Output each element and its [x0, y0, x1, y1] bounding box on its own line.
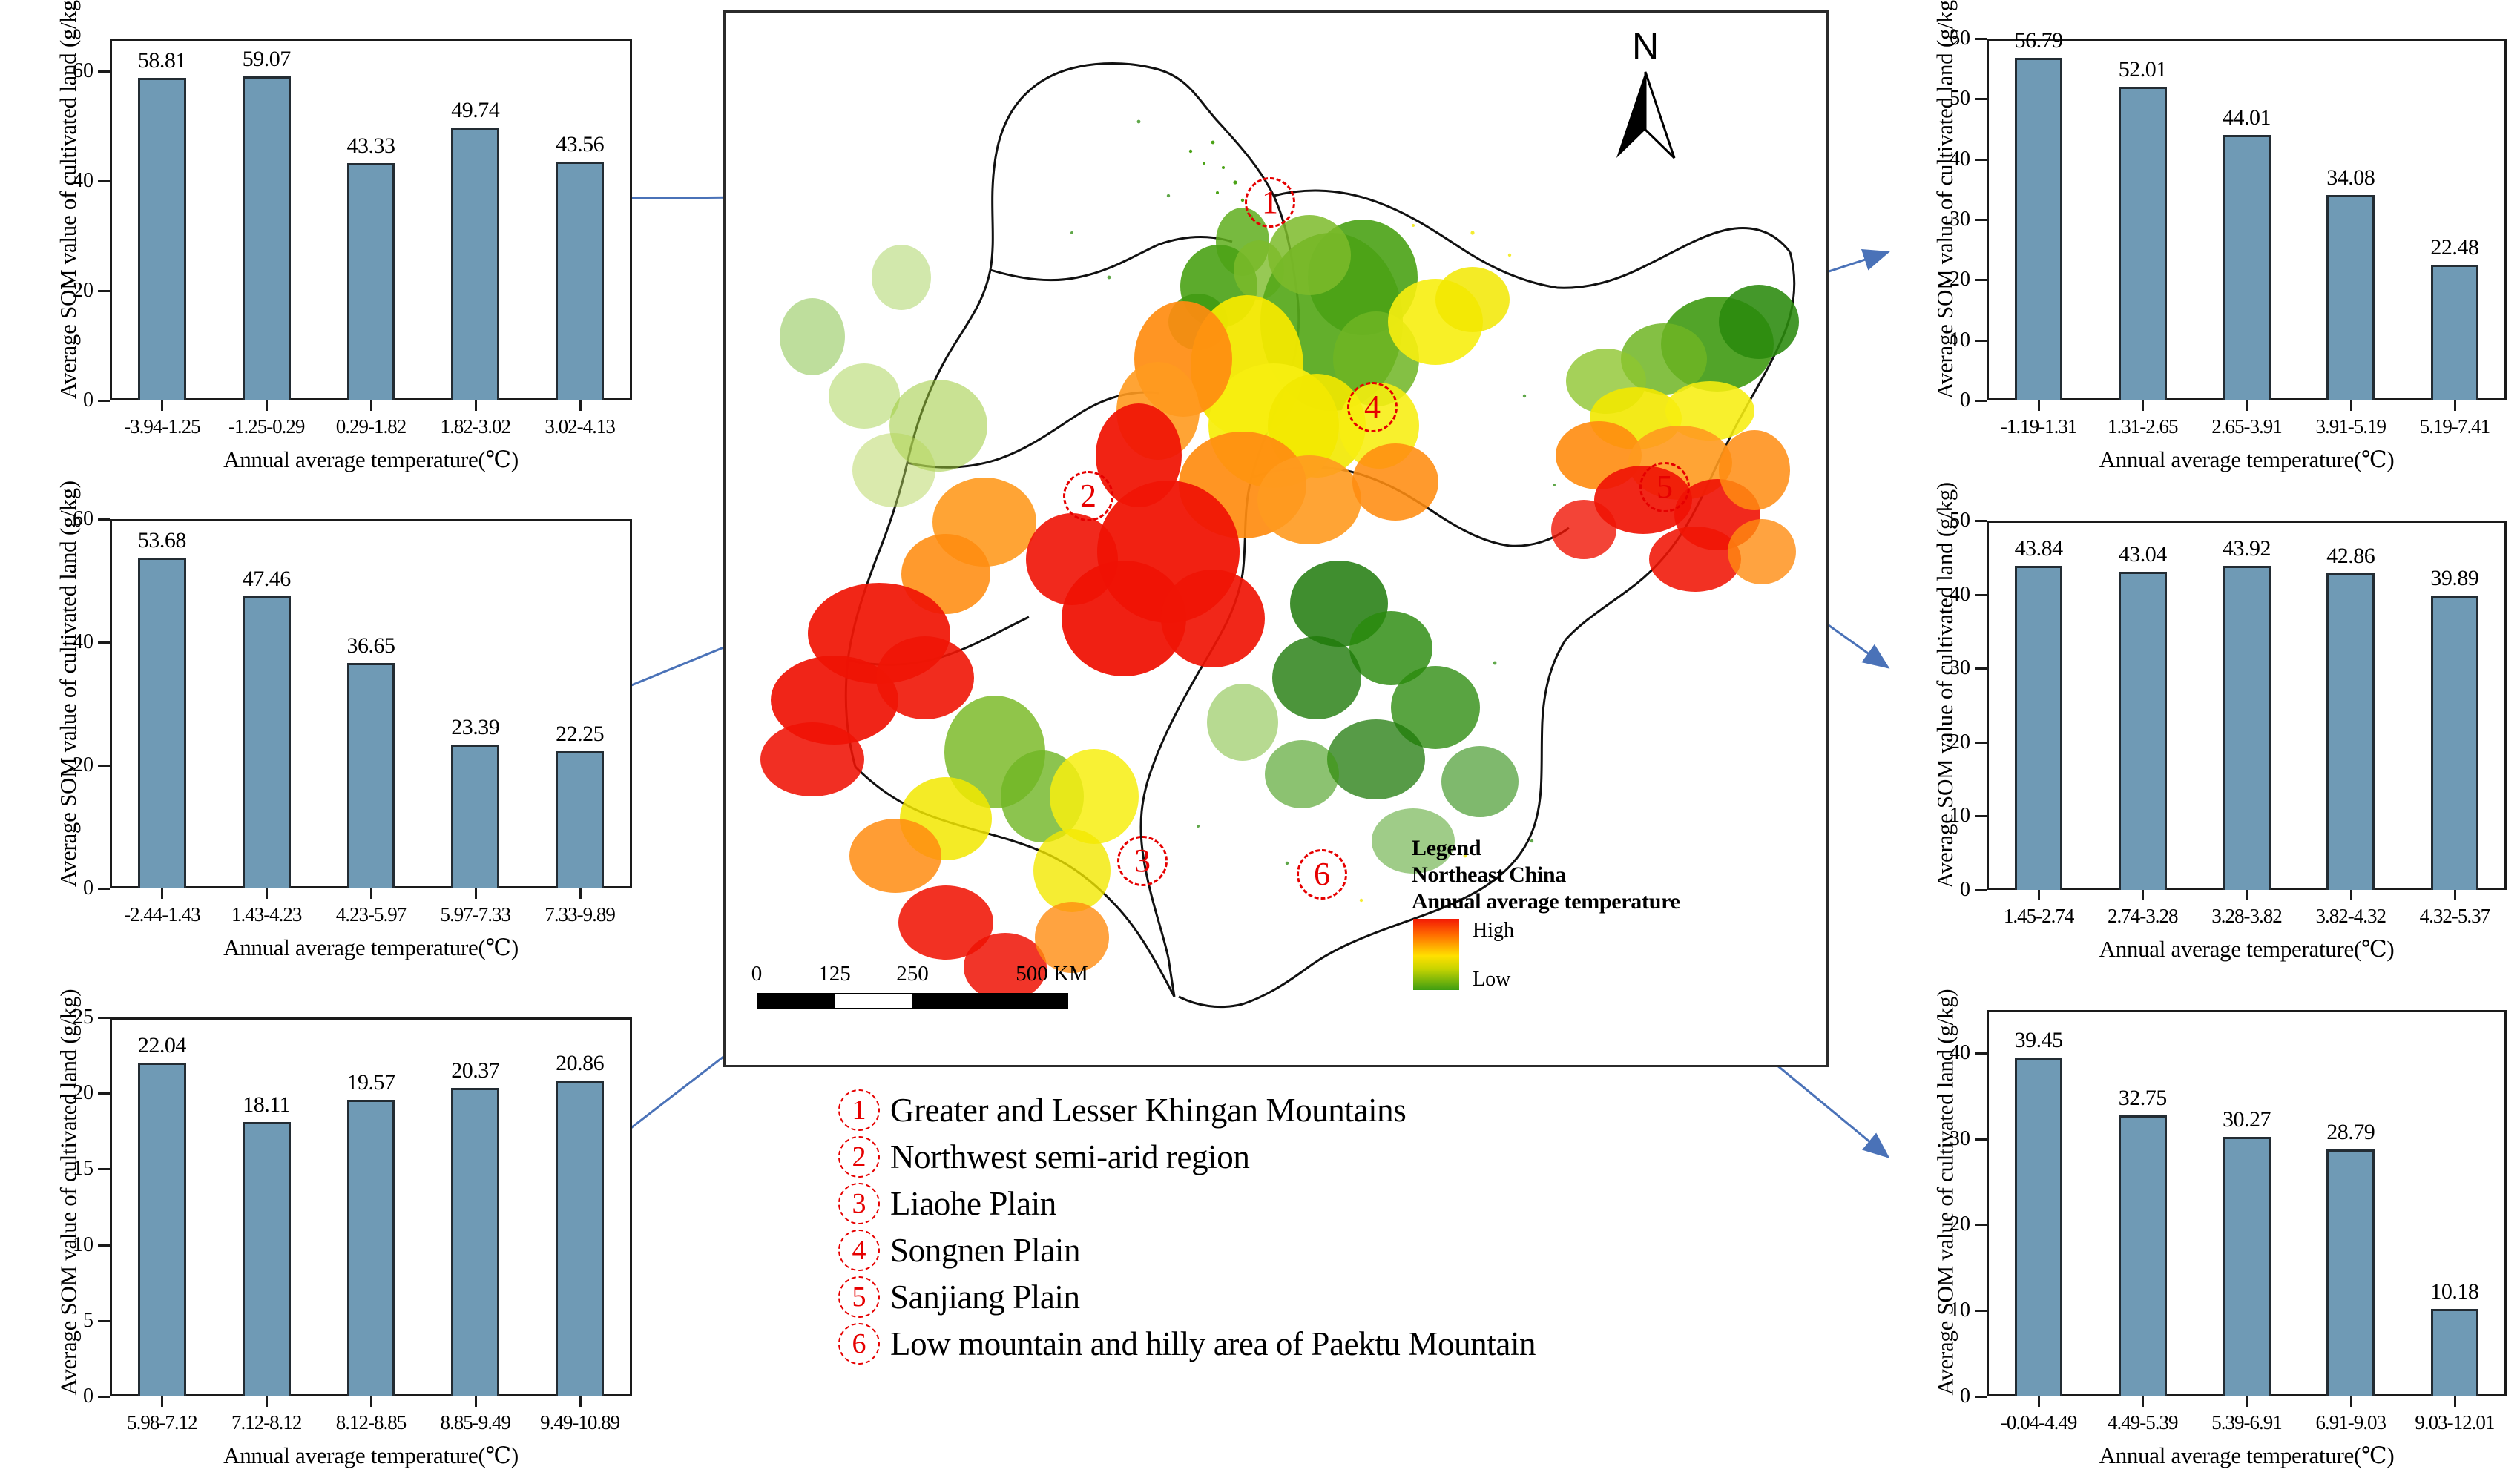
x-axis-tick-label: -1.25-0.29: [214, 415, 319, 438]
region-number-badge: 6: [838, 1323, 880, 1365]
map-marker-2[interactable]: 2: [1063, 471, 1113, 521]
x-axis-tick-mark: [2454, 1396, 2456, 1407]
x-axis-tick-labels: -0.04-4.494.49-5.395.39-6.916.91-9.039.0…: [1987, 1411, 2507, 1434]
region-number-badge: 3: [838, 1183, 880, 1224]
x-axis-tick-label: 8.12-8.85: [319, 1411, 424, 1434]
y-axis-tick-mark: [98, 888, 110, 890]
x-axis-tick-label: 8.85-9.49: [423, 1411, 527, 1434]
bar[interactable]: [556, 162, 604, 400]
bar-value-label: 10.18: [2430, 1279, 2478, 1304]
bar[interactable]: [138, 78, 186, 400]
bar[interactable]: [2431, 1309, 2478, 1396]
bar[interactable]: [2431, 596, 2478, 890]
bar[interactable]: [2326, 195, 2374, 400]
y-axis-title: Average SOM value of cultivated land (g/…: [55, 1016, 82, 1395]
bar-value-label: 43.04: [2119, 542, 2167, 567]
x-axis-tick-mark: [2246, 400, 2248, 411]
region-list-item: 4Songnen Plain: [838, 1227, 1536, 1273]
bar-item[interactable]: 56.79: [1987, 39, 2090, 400]
y-axis-tick-mark: [1975, 520, 1987, 522]
x-axis-title: Annual average temperature(℃): [1987, 446, 2507, 473]
chart-panel-2[interactable]: 020406053.6847.4636.6523.3922.25-2.44-1.…: [0, 481, 645, 970]
y-axis-title: Average SOM value of cultivated land (g/…: [1932, 37, 1958, 399]
map-panel[interactable]: N Legend Northeast China Annual average …: [723, 10, 1829, 1067]
bar-item[interactable]: 44.01: [2194, 39, 2298, 400]
y-axis-tick-mark: [98, 641, 110, 644]
chart-panel-3[interactable]: 051015202522.0418.1119.5720.3720.865.98-…: [0, 979, 645, 1478]
x-axis-tick-mark: [161, 888, 163, 899]
x-axis-tick-mark: [2142, 1396, 2144, 1407]
region-number-badge: 2: [838, 1136, 880, 1178]
bar[interactable]: [451, 1088, 499, 1396]
bar-item[interactable]: 34.08: [2299, 39, 2403, 400]
bar-item[interactable]: 43.92: [2194, 521, 2298, 890]
x-axis-tick-label: 3.82-4.32: [2299, 905, 2403, 928]
x-axis-tick-label: 5.19-7.41: [2403, 415, 2507, 438]
bar-value-label: 58.81: [138, 48, 186, 73]
bar-series: 58.8159.0743.3349.7443.56: [110, 39, 632, 400]
y-axis-tick-mark: [1975, 667, 1987, 670]
scale-bar: [757, 993, 1068, 1009]
bar-item[interactable]: 43.33: [319, 39, 424, 400]
region-name-label: Songnen Plain: [890, 1231, 1080, 1270]
x-axis-tick-mark: [2350, 400, 2352, 411]
north-label: N: [1605, 27, 1686, 65]
bar[interactable]: [2015, 566, 2062, 890]
x-axis-tick-labels: -2.44-1.431.43-4.234.23-5.975.97-7.337.3…: [110, 903, 632, 926]
bar-value-label: 18.11: [243, 1092, 290, 1118]
y-axis-tick-mark: [1975, 815, 1987, 817]
x-axis-tick-mark: [266, 888, 268, 899]
chart-panel-6[interactable]: 01020304039.4532.7530.2728.7910.18-0.04-…: [1877, 971, 2520, 1478]
y-axis-tick-mark: [98, 1017, 110, 1019]
region-list-item: 5Sanjiang Plain: [838, 1273, 1536, 1320]
y-axis-tick-mark: [1975, 279, 1987, 281]
region-name-label: Liaohe Plain: [890, 1184, 1056, 1223]
bar-value-label: 43.84: [2015, 536, 2063, 561]
x-axis-tick-label: 1.43-4.23: [214, 903, 319, 926]
y-axis-tick-mark: [98, 1092, 110, 1095]
x-axis-tick-label: -2.44-1.43: [110, 903, 214, 926]
x-axis-tick-label: 3.91-5.19: [2299, 415, 2403, 438]
region-name-label: Sanjiang Plain: [890, 1278, 1080, 1316]
x-axis-tick-label: 2.74-3.28: [2090, 905, 2194, 928]
y-axis-tick-label: 0: [1960, 878, 1970, 902]
x-axis-tick-mark: [2350, 890, 2352, 900]
bar-item[interactable]: 43.56: [527, 39, 632, 400]
bar-item[interactable]: 20.37: [423, 1017, 527, 1396]
bar-value-label: 59.07: [243, 47, 291, 72]
x-axis-tick-label: -0.04-4.49: [1987, 1411, 2090, 1434]
bar-value-label: 32.75: [2119, 1086, 2167, 1111]
x-axis-tick-mark: [2038, 890, 2040, 900]
x-axis-title: Annual average temperature(℃): [1987, 1442, 2507, 1469]
x-axis-tick-mark: [475, 1396, 477, 1407]
y-axis-tick-mark: [1975, 340, 1987, 342]
x-axis-tick-labels: -3.94-1.25-1.25-0.290.29-1.821.82-3.023.…: [110, 415, 632, 438]
x-axis-tick-mark: [2038, 400, 2040, 411]
y-axis-tick-mark: [1975, 1310, 1987, 1312]
x-axis-tick-label: -1.19-1.31: [1987, 415, 2090, 438]
bar-value-label: 49.74: [451, 98, 499, 123]
bar-series: 22.0418.1119.5720.3720.86: [110, 1017, 632, 1396]
bar[interactable]: [2223, 135, 2270, 400]
x-axis-tick-label: 4.49-5.39: [2090, 1411, 2194, 1434]
bar-series: 53.6847.4636.6523.3922.25: [110, 519, 632, 888]
x-axis-tick-mark: [475, 888, 477, 899]
x-axis-tick-mark: [579, 400, 582, 411]
x-axis-tick-label: 5.39-6.91: [2194, 1411, 2298, 1434]
x-axis-tick-label: 1.82-3.02: [423, 415, 527, 438]
y-axis-title: Average SOM value of cultivated land (g/…: [1932, 1009, 1958, 1395]
bar-item[interactable]: 28.79: [2299, 1010, 2403, 1396]
bar-value-label: 56.79: [2015, 28, 2063, 53]
bar-item[interactable]: 22.48: [2403, 39, 2507, 400]
legend-title: Legend: [1412, 836, 1481, 861]
bar-value-label: 22.48: [2430, 235, 2478, 260]
y-axis-tick-mark: [1975, 1052, 1987, 1055]
x-axis-tick-label: 3.28-3.82: [2194, 905, 2298, 928]
y-axis-tick-label: 0: [1960, 1385, 1970, 1408]
bar-value-label: 36.65: [346, 633, 395, 659]
x-axis-tick-label: 1.31-2.65: [2090, 415, 2194, 438]
bar-value-label: 39.45: [2015, 1028, 2063, 1053]
bar-value-label: 20.37: [451, 1058, 499, 1083]
bar-item[interactable]: 23.39: [423, 519, 527, 888]
map-marker-6[interactable]: 6: [1297, 849, 1347, 900]
bar-item[interactable]: 53.68: [110, 519, 214, 888]
x-axis-tick-mark: [370, 1396, 372, 1407]
bar-item[interactable]: 20.86: [527, 1017, 632, 1396]
y-axis-tick-mark: [98, 765, 110, 767]
bar[interactable]: [2326, 573, 2374, 890]
bar-item[interactable]: 32.75: [2090, 1010, 2194, 1396]
x-axis-tick-label: 7.33-9.89: [527, 903, 632, 926]
y-axis-tick-mark: [1975, 1396, 1987, 1398]
bar[interactable]: [2223, 1137, 2270, 1396]
chart-panel-4[interactable]: 010203040506056.7952.0144.0134.0822.48-1…: [1877, 0, 2520, 482]
bar-value-label: 34.08: [2326, 165, 2375, 191]
color-ramp: [1413, 919, 1459, 990]
bar-item[interactable]: 36.65: [319, 519, 424, 888]
region-number-badge: 5: [838, 1276, 880, 1318]
x-axis-tick-label: 4.32-5.37: [2403, 905, 2507, 928]
bar-item[interactable]: 10.18: [2403, 1010, 2507, 1396]
scale-tick-250: 250: [896, 962, 929, 986]
bar-item[interactable]: 39.45: [1987, 1010, 2090, 1396]
region-list-item: 1Greater and Lesser Khingan Mountains: [838, 1086, 1536, 1133]
bar[interactable]: [2015, 1058, 2062, 1396]
bar-value-label: 20.86: [556, 1051, 604, 1076]
y-axis-title: Average SOM value of cultivated land (g/…: [1932, 519, 1958, 888]
bar-item[interactable]: 43.84: [1987, 521, 2090, 890]
bar-value-label: 39.89: [2430, 566, 2478, 591]
bar-value-label: 22.25: [556, 722, 604, 747]
map-marker-5[interactable]: 5: [1639, 462, 1690, 512]
x-axis-tick-labels: 5.98-7.127.12-8.128.12-8.858.85-9.499.49…: [110, 1411, 632, 1434]
y-axis-tick-mark: [1975, 1138, 1987, 1141]
x-axis-tick-label: 7.12-8.12: [214, 1411, 319, 1434]
x-axis-tick-label: 0.29-1.82: [319, 415, 424, 438]
bar-item[interactable]: 22.25: [527, 519, 632, 888]
x-axis-title: Annual average temperature(℃): [1987, 936, 2507, 963]
bar-value-label: 43.33: [346, 133, 395, 159]
x-axis-tick-mark: [2246, 1396, 2248, 1407]
x-axis-tick-mark: [2038, 1396, 2040, 1407]
x-axis-tick-mark: [2142, 400, 2144, 411]
x-axis-tick-label: -3.94-1.25: [110, 415, 214, 438]
bar[interactable]: [2431, 265, 2478, 400]
x-axis-tick-mark: [579, 1396, 582, 1407]
y-axis-tick-mark: [98, 180, 110, 182]
bar[interactable]: [138, 558, 186, 888]
north-arrow: N: [1605, 27, 1686, 168]
bar-value-label: 53.68: [138, 528, 186, 553]
x-axis-tick-label: 9.49-10.89: [527, 1411, 632, 1434]
region-number-badge: 1: [838, 1089, 880, 1131]
bar[interactable]: [451, 745, 499, 888]
bar-value-label: 22.04: [138, 1033, 186, 1058]
region-list-item: 6Low mountain and hilly area of Paektu M…: [838, 1320, 1536, 1367]
bar-item[interactable]: 30.27: [2194, 1010, 2298, 1396]
y-axis-tick-label: 0: [1960, 389, 1970, 412]
bar-item[interactable]: 43.04: [2090, 521, 2194, 890]
legend-variable: Annual average temperature: [1412, 889, 1680, 914]
bar[interactable]: [2119, 1115, 2166, 1396]
x-axis-tick-mark: [2142, 890, 2144, 900]
bar-value-label: 47.46: [243, 567, 291, 592]
y-axis-tick-mark: [98, 1396, 110, 1398]
y-axis-tick-label: 0: [83, 389, 93, 412]
scale-tick-500: 500 KM: [1016, 962, 1088, 986]
bar[interactable]: [2119, 572, 2166, 890]
bar-item[interactable]: 52.01: [2090, 39, 2194, 400]
chart-panel-1[interactable]: 020406058.8159.0743.3349.7443.56-3.94-1.…: [0, 0, 645, 482]
bar-value-label: 19.57: [346, 1070, 395, 1095]
bar[interactable]: [2119, 87, 2166, 400]
map-marker-3[interactable]: 3: [1117, 836, 1168, 886]
x-axis-tick-mark: [370, 888, 372, 899]
bar-item[interactable]: 58.81: [110, 39, 214, 400]
x-axis-tick-label: 3.02-4.13: [527, 415, 632, 438]
bar-series: 56.7952.0144.0134.0822.48: [1987, 39, 2507, 400]
bar-value-label: 23.39: [451, 715, 499, 740]
bar[interactable]: [243, 76, 291, 400]
x-axis-tick-mark: [579, 888, 582, 899]
y-axis-tick-mark: [1975, 594, 1987, 596]
y-axis-tick-mark: [98, 70, 110, 73]
y-axis-tick-mark: [1975, 38, 1987, 40]
y-axis-tick-mark: [98, 1320, 110, 1322]
x-axis-tick-mark: [2246, 890, 2248, 900]
bar-value-label: 52.01: [2119, 57, 2167, 82]
bar[interactable]: [243, 1122, 291, 1396]
bar-item[interactable]: 18.11: [214, 1017, 319, 1396]
region-name-label: Greater and Lesser Khingan Mountains: [890, 1091, 1406, 1129]
x-axis-tick-mark: [161, 1396, 163, 1407]
x-axis-tick-mark: [2350, 1396, 2352, 1407]
bar-value-label: 30.27: [2223, 1107, 2271, 1132]
x-axis-tick-label: 9.03-12.01: [2403, 1411, 2507, 1434]
bar[interactable]: [556, 1081, 604, 1396]
x-axis-tick-labels: -1.19-1.311.31-2.652.65-3.913.91-5.195.1…: [1987, 415, 2507, 438]
region-list-item: 2Northwest semi-arid region: [838, 1133, 1536, 1180]
bar[interactable]: [347, 663, 395, 888]
y-axis-title: Average SOM value of cultivated land (g/…: [55, 518, 82, 887]
bar-value-label: 42.86: [2326, 544, 2375, 569]
bar[interactable]: [2223, 566, 2270, 890]
x-axis-tick-mark: [475, 400, 477, 411]
map-marker-4[interactable]: 4: [1347, 382, 1398, 432]
region-number-badge: 4: [838, 1230, 880, 1271]
x-axis-tick-label: 1.45-2.74: [1987, 905, 2090, 928]
y-axis-tick-mark: [1975, 219, 1987, 221]
y-axis-tick-mark: [98, 1168, 110, 1170]
bar-item[interactable]: 19.57: [319, 1017, 424, 1396]
y-axis-tick-mark: [1975, 742, 1987, 744]
region-legend-list: 1Greater and Lesser Khingan Mountains2No…: [838, 1086, 1536, 1367]
bar-series: 39.4532.7530.2728.7910.18: [1987, 1010, 2507, 1396]
x-axis-tick-mark: [161, 400, 163, 411]
y-axis-tick-label: 5: [83, 1309, 93, 1333]
y-axis-tick-mark: [98, 1244, 110, 1247]
y-axis-tick-label: 0: [83, 877, 93, 900]
y-axis-tick-mark: [98, 400, 110, 402]
y-axis-tick-mark: [1975, 889, 1987, 891]
y-axis-tick-mark: [1975, 98, 1987, 100]
bar-value-label: 43.56: [556, 132, 604, 157]
y-axis-title: Average SOM value of cultivated land (g/…: [55, 37, 82, 399]
bar-value-label: 28.79: [2326, 1120, 2375, 1145]
scale-tick-125: 125: [818, 962, 851, 986]
bar-item[interactable]: 22.04: [110, 1017, 214, 1396]
bar[interactable]: [556, 751, 604, 888]
x-axis-tick-mark: [266, 1396, 268, 1407]
bar-value-label: 43.92: [2223, 536, 2271, 561]
legend-subtitle: Northeast China: [1412, 862, 1566, 888]
y-axis-tick-mark: [1975, 159, 1987, 161]
bar-item[interactable]: 59.07: [214, 39, 319, 400]
bar[interactable]: [243, 596, 291, 888]
bar[interactable]: [2015, 58, 2062, 400]
y-axis-tick-mark: [1975, 400, 1987, 402]
x-axis-tick-mark: [370, 400, 372, 411]
region-name-label: Low mountain and hilly area of Paektu Mo…: [890, 1324, 1536, 1363]
y-axis-tick-mark: [98, 290, 110, 292]
x-axis-tick-mark: [2454, 890, 2456, 900]
bar-item[interactable]: 39.89: [2403, 521, 2507, 890]
bar[interactable]: [451, 128, 499, 400]
map-marker-1[interactable]: 1: [1245, 177, 1295, 228]
region-name-label: Northwest semi-arid region: [890, 1138, 1249, 1176]
x-axis-tick-label: 2.65-3.91: [2194, 415, 2298, 438]
x-axis-title: Annual average temperature(℃): [110, 934, 632, 961]
x-axis-title: Annual average temperature(℃): [110, 1442, 632, 1469]
scale-tick-0: 0: [751, 962, 763, 986]
bar-item[interactable]: 47.46: [214, 519, 319, 888]
chart-panel-5[interactable]: 0102030405043.8443.0443.9242.8639.891.45…: [1877, 482, 2520, 971]
x-axis-tick-mark: [2454, 400, 2456, 411]
x-axis-tick-mark: [266, 400, 268, 411]
x-axis-title: Annual average temperature(℃): [110, 446, 632, 473]
bar[interactable]: [2326, 1149, 2374, 1396]
bar[interactable]: [347, 163, 395, 400]
bar-series: 43.8443.0443.9242.8639.89: [1987, 521, 2507, 890]
x-axis-tick-label: 5.98-7.12: [110, 1411, 214, 1434]
ramp-high-label: High: [1473, 919, 1514, 943]
x-axis-tick-label: 6.91-9.03: [2299, 1411, 2403, 1434]
y-axis-tick-label: 0: [83, 1385, 93, 1408]
bar-value-label: 44.01: [2223, 105, 2271, 131]
region-list-item: 3Liaohe Plain: [838, 1180, 1536, 1227]
bar-item[interactable]: 42.86: [2299, 521, 2403, 890]
bar[interactable]: [138, 1063, 186, 1396]
ramp-low-label: Low: [1473, 968, 1510, 992]
x-axis-tick-labels: 1.45-2.742.74-3.283.28-3.823.82-4.324.32…: [1987, 905, 2507, 928]
y-axis-tick-mark: [1975, 1224, 1987, 1226]
bar[interactable]: [347, 1100, 395, 1396]
x-axis-tick-label: 5.97-7.33: [423, 903, 527, 926]
x-axis-tick-label: 4.23-5.97: [319, 903, 424, 926]
bar-item[interactable]: 49.74: [423, 39, 527, 400]
y-axis-tick-mark: [98, 518, 110, 521]
